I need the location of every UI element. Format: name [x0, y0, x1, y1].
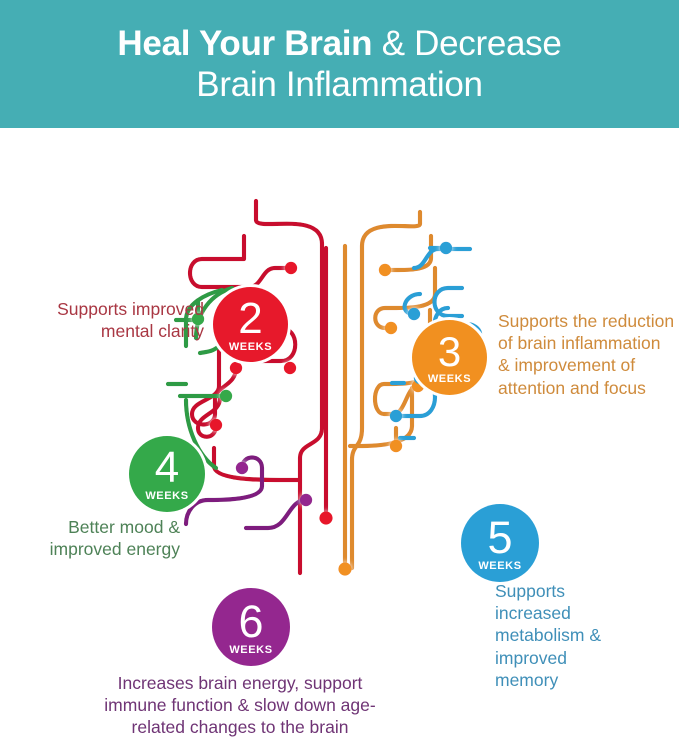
- header-title-bold: Heal Your Brain: [117, 24, 372, 63]
- milestone-caption-week-4: Better mood & improved energy: [40, 516, 180, 560]
- header-title-line1: Heal Your Brain & Decrease: [30, 23, 650, 64]
- milestone-unit: WEEKS: [145, 491, 188, 502]
- milestone-number: 5: [487, 515, 512, 560]
- dot-purple-2: [300, 494, 312, 506]
- milestone-circle-week-4[interactable]: 4 WEEKS: [129, 436, 205, 512]
- dot-purple-1: [236, 462, 248, 474]
- dot-blue-4: [390, 410, 402, 422]
- dot-blue-2: [408, 308, 420, 320]
- dot-orange-1: [379, 264, 391, 276]
- milestone-circle-week-5[interactable]: 5 WEEKS: [461, 504, 539, 582]
- milestone-caption-week-5: Supports increased metabolism & improved…: [495, 580, 627, 691]
- milestone-number: 4: [155, 446, 179, 490]
- dot-orange-4: [390, 440, 402, 452]
- milestone-circle-week-2[interactable]: 2 WEEKS: [213, 287, 288, 362]
- milestone-caption-week-6: Increases brain energy, support immune f…: [85, 672, 395, 739]
- dot-orange-2: [385, 322, 397, 334]
- dot-red-2: [230, 362, 242, 374]
- dot-red-1: [285, 262, 297, 274]
- dot-red-3: [284, 362, 296, 374]
- milestone-number: 2: [238, 297, 262, 341]
- dot-red-stem: [319, 511, 332, 524]
- header-title-line2: Brain Inflammation: [30, 64, 650, 105]
- header-title-light: & Decrease: [372, 24, 561, 63]
- brain-graphic-stage: 2 WEEKS 3 WEEKS 4 WEEKS 5 WEEKS 6 WEEKS …: [0, 128, 679, 635]
- header-title-block: Heal Your Brain & Decrease Brain Inflamm…: [30, 23, 650, 106]
- header-banner: Heal Your Brain & Decrease Brain Inflamm…: [0, 0, 679, 128]
- dot-red-4: [210, 419, 222, 431]
- infographic-root: Heal Your Brain & Decrease Brain Inflamm…: [0, 0, 679, 635]
- milestone-circle-week-3[interactable]: 3 WEEKS: [412, 320, 487, 395]
- milestone-caption-week-2: Supports improved mental clarity: [24, 298, 204, 342]
- milestone-caption-week-3: Supports the reduction of brain inflamma…: [498, 310, 676, 399]
- milestone-unit: WEEKS: [229, 645, 272, 656]
- milestone-unit: WEEKS: [478, 561, 521, 572]
- brain-left-outline: [190, 201, 322, 573]
- milestone-number: 3: [438, 331, 461, 373]
- milestone-unit: WEEKS: [428, 374, 471, 385]
- dot-orange-stem: [338, 562, 351, 575]
- dot-green-2: [220, 390, 232, 402]
- dot-blue-1: [440, 242, 452, 254]
- milestone-unit: WEEKS: [229, 342, 272, 353]
- milestone-circle-week-6[interactable]: 6 WEEKS: [212, 588, 290, 666]
- milestone-number: 6: [238, 599, 263, 644]
